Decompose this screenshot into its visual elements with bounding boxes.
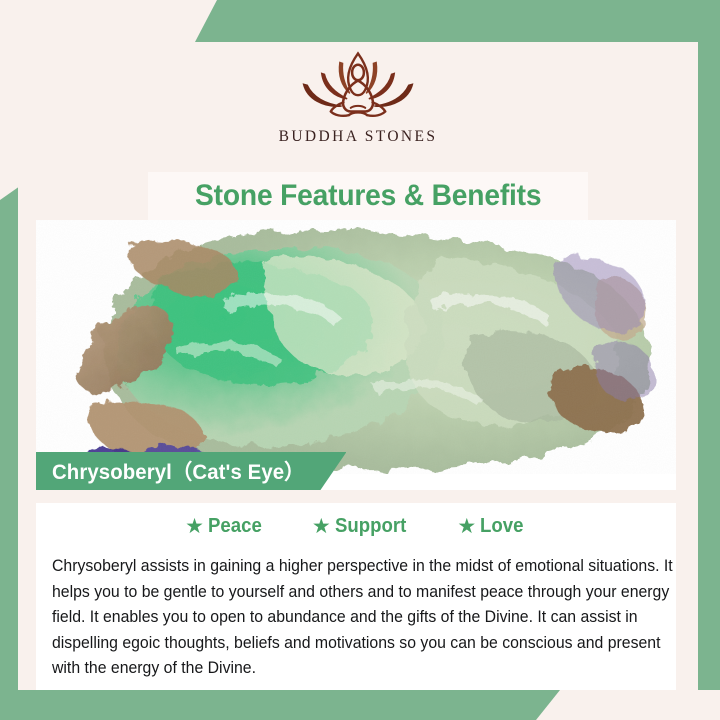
poster-page: BUDDHA STONES bbox=[0, 0, 720, 720]
brand-name: BUDDHA STONES bbox=[279, 128, 438, 146]
stone-photo-container: Chrysoberyl（Cat's Eye） bbox=[36, 220, 676, 490]
benefit-label: Peace bbox=[208, 515, 262, 538]
title-plate: Stone Features & Benefits bbox=[148, 172, 588, 220]
benefit-label: Love bbox=[480, 515, 523, 538]
page-title: Stone Features & Benefits bbox=[195, 179, 541, 213]
benefit-label: Support bbox=[335, 515, 406, 538]
frame-top-bar bbox=[195, 0, 720, 42]
benefit-item: ★ Support bbox=[312, 515, 411, 538]
stone-name-text: Chrysoberyl（Cat's Eye） bbox=[52, 456, 305, 486]
benefit-item: ★ Love bbox=[457, 515, 527, 538]
star-icon: ★ bbox=[457, 516, 476, 537]
benefits-row: ★ Peace ★ Support ★ Love bbox=[36, 515, 676, 538]
description-section: ★ Peace ★ Support ★ Love Chrysoberyl ass… bbox=[36, 490, 676, 690]
frame-left-bar bbox=[0, 186, 20, 720]
stone-description: Chrysoberyl assists in gaining a higher … bbox=[52, 554, 689, 682]
stone-photo bbox=[36, 220, 676, 474]
stone-name-banner: Chrysoberyl（Cat's Eye） bbox=[36, 452, 346, 490]
frame-right-bar bbox=[698, 0, 720, 690]
brand-header: BUDDHA STONES bbox=[18, 42, 698, 170]
star-icon: ★ bbox=[312, 516, 331, 537]
frame-bottom-bar bbox=[0, 690, 560, 720]
lotus-meditation-icon bbox=[285, 48, 431, 126]
benefit-item: ★ Peace bbox=[185, 515, 266, 538]
content-card: BUDDHA STONES bbox=[18, 42, 698, 690]
star-icon: ★ bbox=[185, 516, 204, 537]
cream-divider bbox=[36, 490, 676, 503]
